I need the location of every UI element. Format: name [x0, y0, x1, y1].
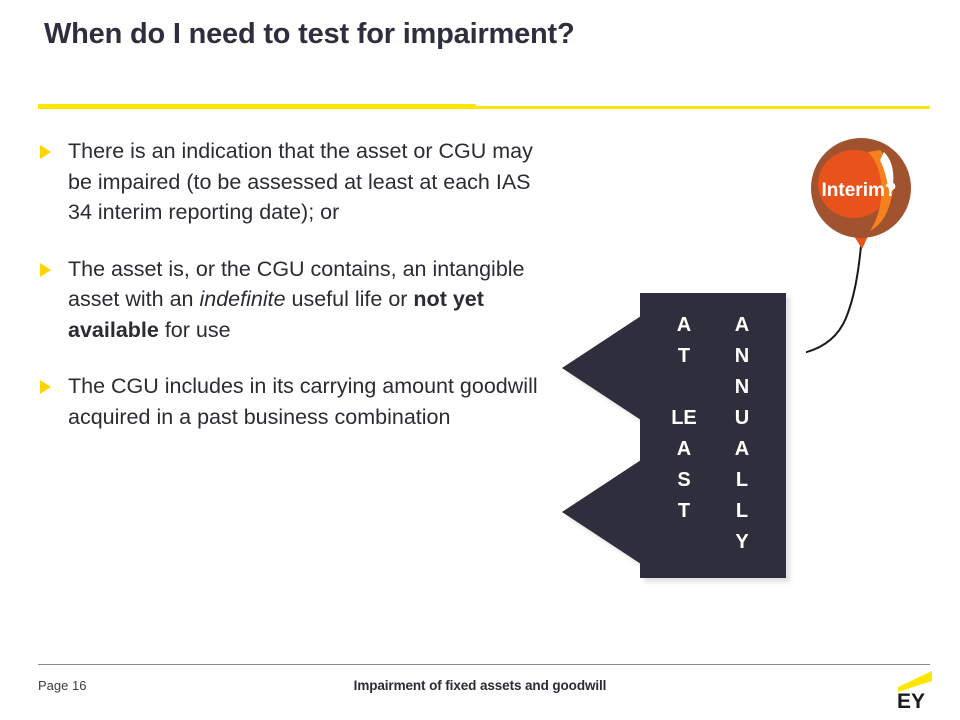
diagram-shapes: [552, 286, 802, 592]
at-least-annually-box: [640, 293, 786, 578]
list-item: The CGU includes in its carrying amount …: [40, 371, 540, 432]
bullet-emphasis-indefinite: indefinite: [199, 287, 285, 311]
triangle-bullet-icon: [40, 263, 51, 277]
balloon-shapes: Interim?: [806, 136, 942, 376]
ey-beam-icon: [898, 671, 932, 692]
footer-deck-title: Impairment of fixed assets and goodwill: [0, 678, 960, 693]
balloon-label: Interim?: [822, 180, 897, 201]
balloon-string: [806, 246, 861, 355]
triangle-bullet-icon: [40, 380, 51, 394]
bullet-text-3: The CGU includes in its carrying amount …: [68, 371, 540, 432]
title-divider-thick: [38, 104, 476, 109]
bullet-text-2: The asset is, or the CGU contains, an in…: [68, 254, 540, 346]
page-title: When do I need to test for impairment?: [44, 18, 864, 51]
ey-logo: EY: [896, 668, 942, 710]
interim-balloon: Interim?: [806, 136, 942, 376]
title-divider-thin: [476, 106, 930, 109]
ey-logo-shapes: EY: [896, 668, 942, 710]
triangle-bullet-icon: [40, 145, 51, 159]
bullet-text-1: There is an indication that the asset or…: [68, 136, 540, 228]
footer-divider: [38, 664, 930, 665]
list-item: There is an indication that the asset or…: [40, 136, 540, 228]
ey-logo-text: EY: [897, 690, 925, 710]
at-least-annually-diagram: [552, 286, 802, 592]
list-item: The asset is, or the CGU contains, an in…: [40, 254, 540, 346]
bullet-list: There is an indication that the asset or…: [40, 136, 540, 458]
